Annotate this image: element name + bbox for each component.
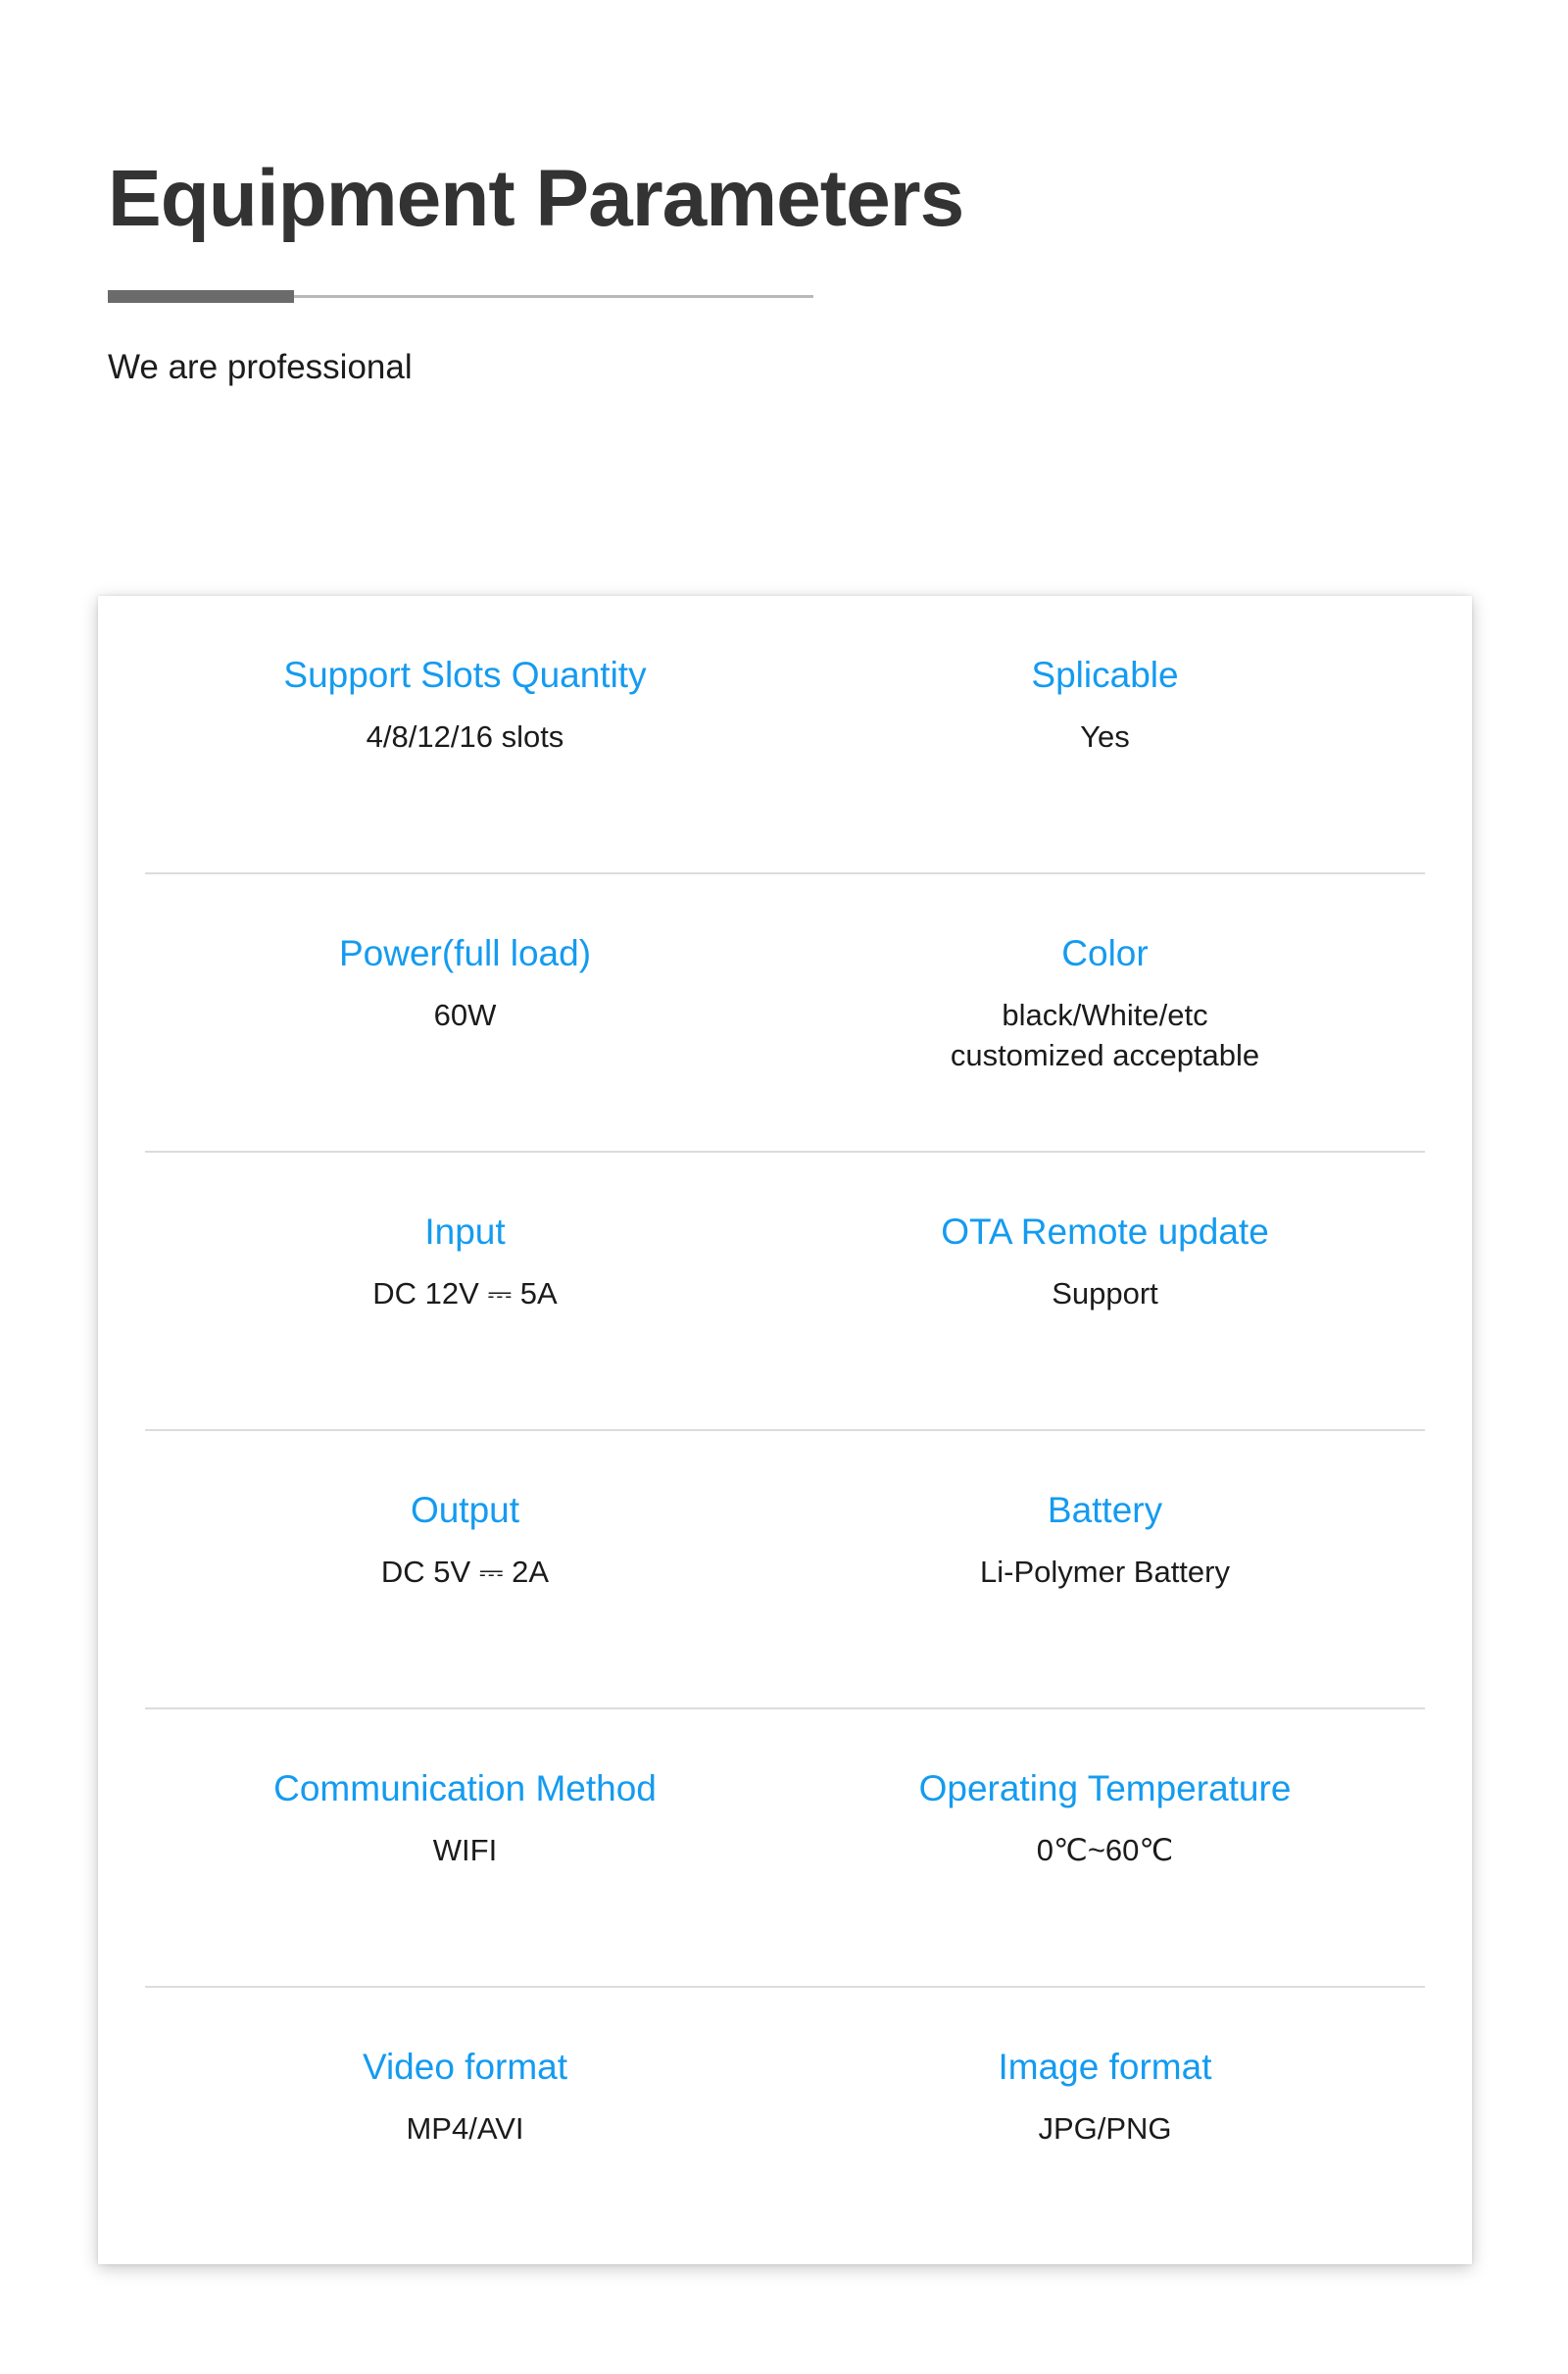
page-subtitle: We are professional xyxy=(108,347,1460,388)
spec-cell-video-format: Video format MP4/AVI xyxy=(145,2045,785,2150)
spec-value: MP4/AVI xyxy=(151,2109,779,2150)
spec-row: Support Slots Quantity 4/8/12/16 slots S… xyxy=(145,596,1425,874)
spec-value: DC 12V ⎓ 5A xyxy=(151,1274,779,1314)
spec-cell-color: Color black/White/etc customized accepta… xyxy=(785,931,1425,1076)
spec-value: Yes xyxy=(791,717,1419,758)
spec-cell-operating-temperature: Operating Temperature 0℃~60℃ xyxy=(785,1766,1425,1871)
spec-cell-splicable: Splicable Yes xyxy=(785,653,1425,758)
spec-label: Power(full load) xyxy=(151,931,779,976)
divider-thin-segment xyxy=(294,295,813,298)
spec-cell-output: Output DC 5V ⎓ 2A xyxy=(145,1488,785,1593)
title-divider xyxy=(108,290,813,304)
spec-label: Operating Temperature xyxy=(791,1766,1419,1811)
spec-value: 4/8/12/16 slots xyxy=(151,717,779,758)
spec-label: Image format xyxy=(791,2045,1419,2090)
spec-value: black/White/etc customized acceptable xyxy=(791,996,1419,1076)
spec-cell-ota-remote-update: OTA Remote update Support xyxy=(785,1210,1425,1314)
spec-row: Input DC 12V ⎓ 5A OTA Remote update Supp… xyxy=(145,1153,1425,1431)
spec-label: Support Slots Quantity xyxy=(151,653,779,698)
spec-row: Video format MP4/AVI Image format JPG/PN… xyxy=(145,1988,1425,2264)
spec-label: Battery xyxy=(791,1488,1419,1533)
spec-row: Communication Method WIFI Operating Temp… xyxy=(145,1709,1425,1988)
spec-label: Splicable xyxy=(791,653,1419,698)
spec-row: Power(full load) 60W Color black/White/e… xyxy=(145,874,1425,1153)
divider-thick-segment xyxy=(108,290,294,303)
spec-cell-communication-method: Communication Method WIFI xyxy=(145,1766,785,1871)
spec-label: Input xyxy=(151,1210,779,1255)
spec-value: 0℃~60℃ xyxy=(791,1831,1419,1871)
spec-label: Output xyxy=(151,1488,779,1533)
spec-value: JPG/PNG xyxy=(791,2109,1419,2150)
spec-label: OTA Remote update xyxy=(791,1210,1419,1255)
spec-label: Communication Method xyxy=(151,1766,779,1811)
spec-label: Video format xyxy=(151,2045,779,2090)
spec-value: Li-Polymer Battery xyxy=(791,1553,1419,1593)
spec-cell-input: Input DC 12V ⎓ 5A xyxy=(145,1210,785,1314)
spec-value: DC 5V ⎓ 2A xyxy=(151,1553,779,1593)
specifications-card: Support Slots Quantity 4/8/12/16 slots S… xyxy=(98,596,1472,2264)
spec-cell-battery: Battery Li-Polymer Battery xyxy=(785,1488,1425,1593)
spec-cell-image-format: Image format JPG/PNG xyxy=(785,2045,1425,2150)
spec-cell-support-slots-quantity: Support Slots Quantity 4/8/12/16 slots xyxy=(145,653,785,758)
spec-value: Support xyxy=(791,1274,1419,1314)
page-title: Equipment Parameters xyxy=(108,157,1460,241)
page-header: Equipment Parameters We are professional xyxy=(108,157,1460,388)
spec-label: Color xyxy=(791,931,1419,976)
spec-row: Output DC 5V ⎓ 2A Battery Li-Polymer Bat… xyxy=(145,1431,1425,1709)
spec-cell-power-full-load: Power(full load) 60W xyxy=(145,931,785,1036)
spec-value: WIFI xyxy=(151,1831,779,1871)
spec-value: 60W xyxy=(151,996,779,1036)
